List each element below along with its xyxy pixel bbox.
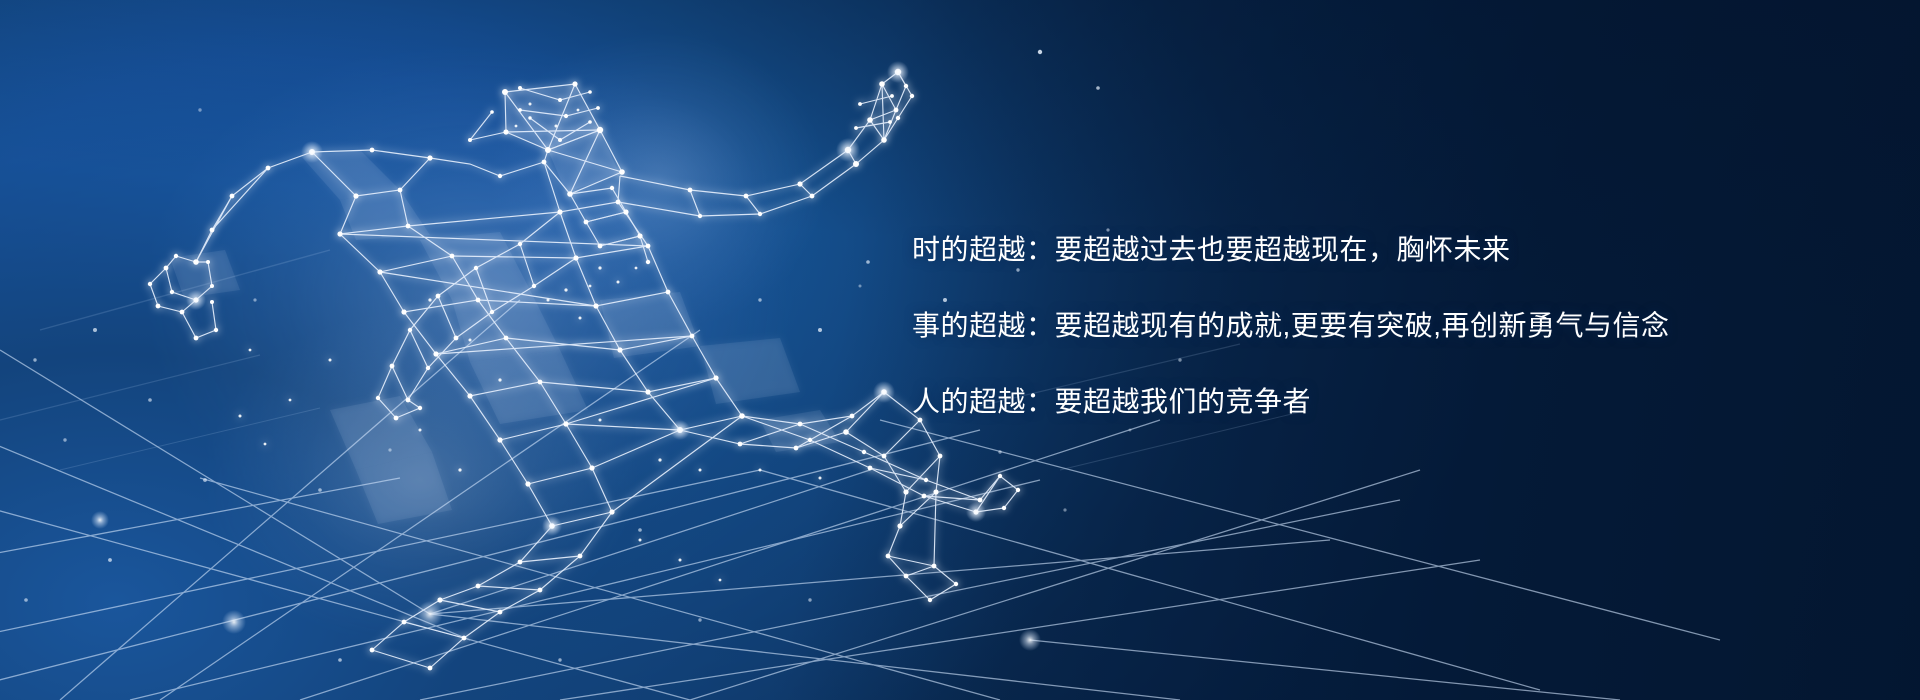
tagline-matter: 事的超越：要超越现有的成就,更要有突破,再创新勇气与信念 [912, 312, 1792, 340]
tagline-block: 时的超越：要超越过去也要超越现在，胸怀未来 事的超越：要超越现有的成就,更要有突… [912, 236, 1792, 416]
hero-banner: 时的超越：要超越过去也要超越现在，胸怀未来 事的超越：要超越现有的成就,更要有突… [0, 0, 1920, 700]
tagline-people: 人的超越：要超越我们的竞争者 [912, 388, 1792, 416]
tagline-time: 时的超越：要超越过去也要超越现在，胸怀未来 [912, 236, 1792, 264]
